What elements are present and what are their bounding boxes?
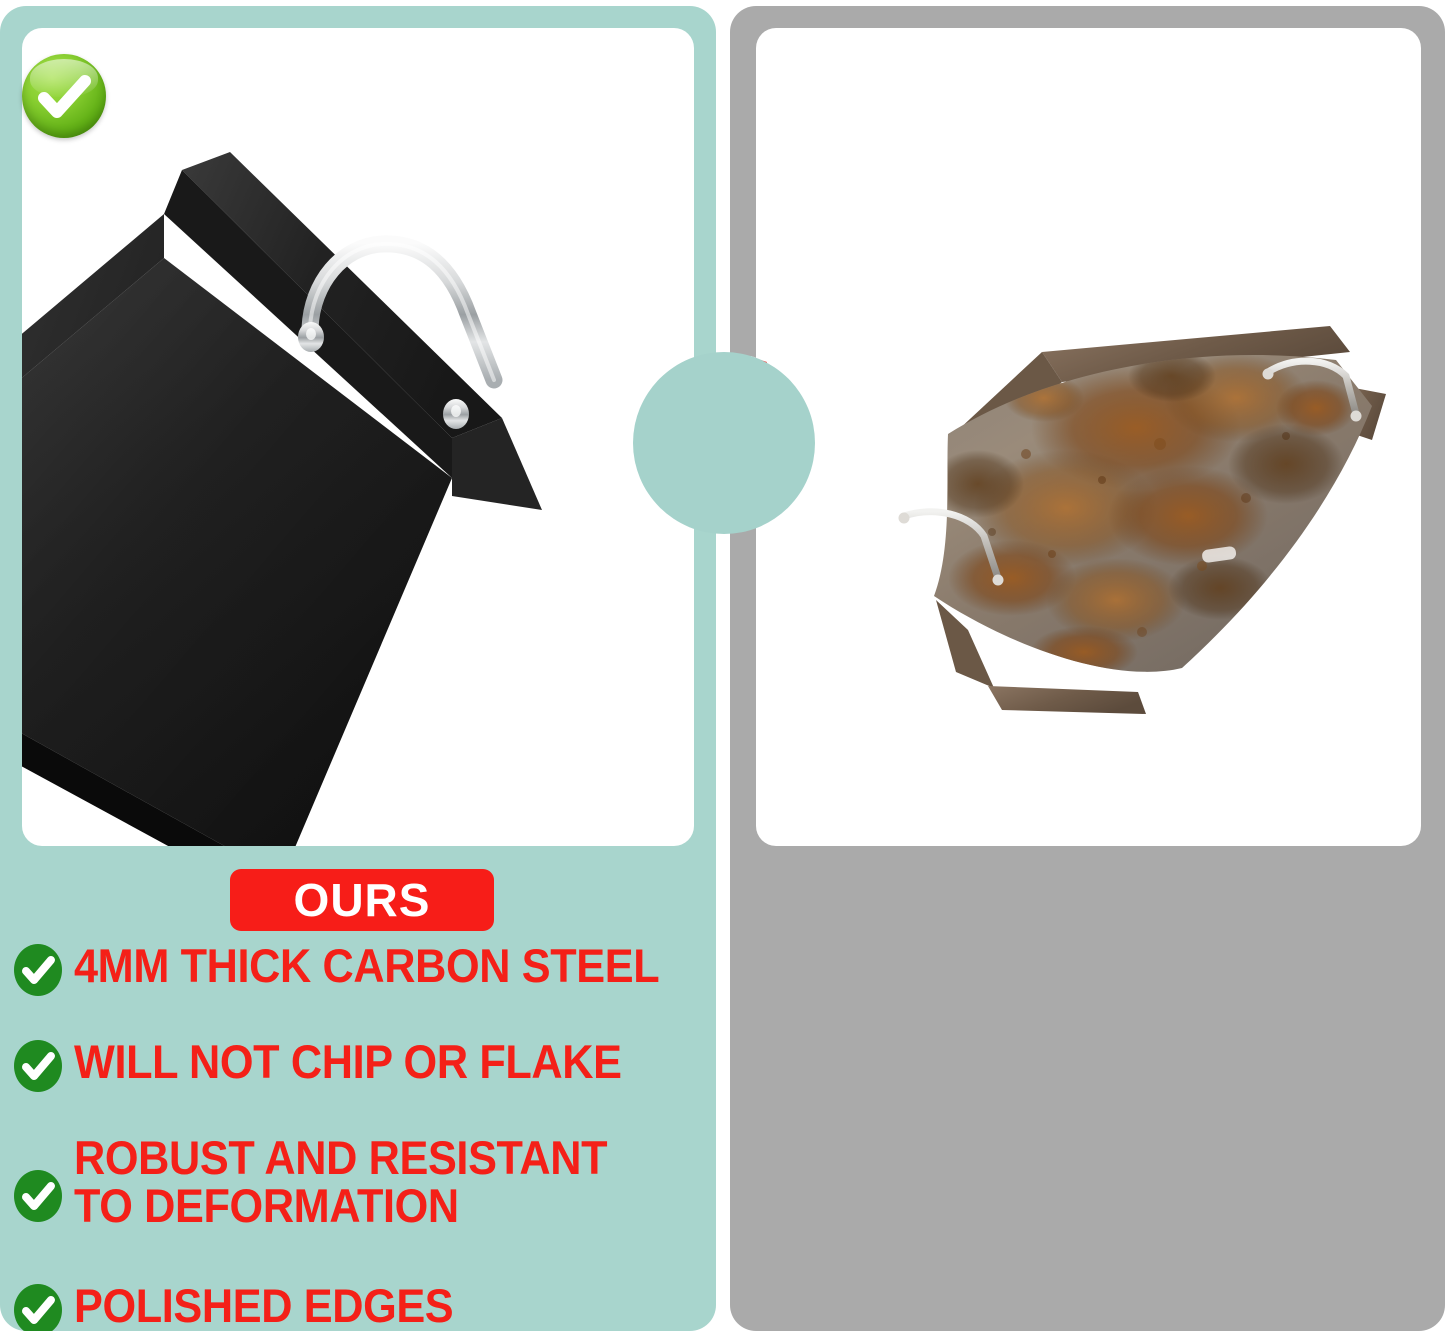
others-panel: OTHERS Thinner and lighter materials Ch — [730, 6, 1445, 1331]
ours-product-card — [22, 28, 694, 846]
vs-badge-icon: VS — [633, 352, 815, 534]
check-circle-icon — [14, 1170, 62, 1222]
check-circle-icon — [14, 1040, 62, 1092]
feature-label: WILL NOT CHIP OR FLAKE — [74, 1038, 663, 1086]
ours-title-badge: OURS — [230, 869, 494, 931]
check-circle-icon — [14, 1284, 62, 1331]
list-item: WILL NOT CHIP OR FLAKE — [14, 1038, 714, 1110]
feature-label: ROBUST AND RESISTANT TO DEFORMATION — [74, 1134, 663, 1230]
ours-feature-list: 4MM THICK CARBON STEEL WILL NOT CHIP OR … — [14, 942, 714, 1331]
others-product-card — [756, 28, 1421, 846]
check-circle-icon — [14, 944, 62, 996]
ours-title-label: OURS — [294, 873, 431, 927]
list-item: ROBUST AND RESISTANT TO DEFORMATION — [14, 1134, 714, 1258]
ours-panel: OURS 4MM THICK CARBON STEEL WILL NOT CH — [0, 6, 716, 1331]
rusty-griddle-image — [816, 248, 1416, 718]
feature-label: 4MM THICK CARBON STEEL — [74, 942, 663, 990]
black-griddle-image — [22, 118, 694, 846]
feature-label: POLISHED EDGES — [74, 1282, 663, 1330]
list-item: 4MM THICK CARBON STEEL — [14, 942, 714, 1014]
comparison-infographic: OURS 4MM THICK CARBON STEEL WILL NOT CH — [0, 0, 1445, 1337]
list-item: POLISHED EDGES — [14, 1282, 714, 1331]
check-circle-icon — [22, 54, 106, 138]
